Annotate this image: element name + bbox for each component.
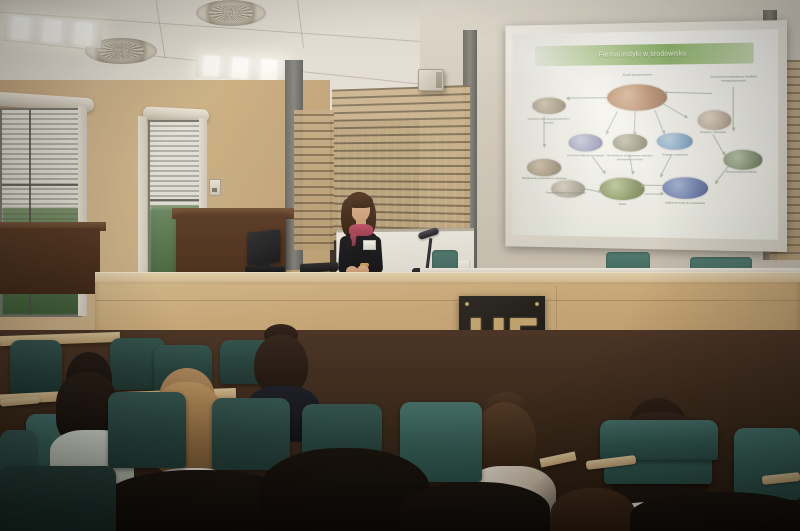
wall-speaker-icon [418, 69, 444, 91]
person-hair [550, 488, 636, 531]
diagram-arrow [606, 111, 618, 134]
diagram-arrow [633, 111, 635, 134]
audience-chair [108, 392, 186, 468]
slide-title-banner: Farmaceutyki w środowisku [535, 42, 753, 66]
diagram-node [723, 150, 762, 169]
presenter-name-badge [363, 240, 376, 250]
audience-chair [600, 420, 718, 460]
lectern-shelf [0, 228, 100, 294]
diagram-node [612, 134, 647, 151]
person-hair [474, 402, 536, 476]
diagram-arrow [641, 184, 662, 185]
diagram-node-label: Odbiornik wody do środowiska [658, 202, 711, 206]
diagram-arrow [544, 116, 545, 147]
diagram-node-label: Gleba [596, 203, 648, 207]
foreground-person [630, 492, 800, 531]
slide-content: Farmaceutyki w środowisku Środki farmace… [513, 29, 779, 240]
diagram-arrow [645, 194, 664, 195]
lecture-hall-photo: Farmaceutyki w środowisku Środki farmace… [0, 0, 800, 531]
diagram-node [698, 111, 731, 130]
audience-chair [212, 398, 290, 470]
audience-chair [734, 428, 800, 500]
diagram-arrow [733, 87, 734, 131]
diagram-node-label: Powierzchniowe wody gruntowe [540, 191, 591, 195]
front-desk-seam [95, 300, 800, 301]
diagram-node [600, 178, 645, 200]
diagram-arrow [715, 166, 729, 184]
diagram-arrow [662, 103, 687, 118]
audience-chair [0, 466, 116, 531]
diagram-node [662, 177, 708, 199]
acoustic-panel [294, 110, 334, 250]
projection-screen: Farmaceutyki w środowisku Środki farmace… [505, 20, 787, 252]
diagram-node-label: Przemysł farmaceutyczny środków farmaceu… [705, 75, 763, 83]
presenter [330, 192, 390, 284]
diagram-node [607, 84, 667, 111]
diagram-arrow [567, 97, 607, 98]
diagram-node [532, 97, 566, 114]
slide-diagram: Środki farmaceutyczne Przemysł farmaceut… [520, 67, 770, 227]
light-switch-icon[interactable] [209, 179, 221, 196]
diagram-arrow [664, 92, 712, 94]
diagram-arrow [712, 135, 724, 156]
foreground-person [400, 482, 550, 531]
diagram-node-label: Środki farmaceutyczne [611, 73, 663, 77]
air-vent-icon [196, 0, 266, 26]
slide-title: Farmaceutyki w środowisku [599, 50, 687, 58]
diagram-node-label: Terapia u człowieka [648, 153, 701, 157]
diagram-arrow [654, 110, 664, 134]
diagram-node-label: Leczenie zwierząt gospodarskich i hodowl… [524, 117, 575, 125]
presenter-monitor [247, 229, 280, 265]
diagram-node [527, 159, 561, 176]
diagram-node [568, 134, 602, 151]
